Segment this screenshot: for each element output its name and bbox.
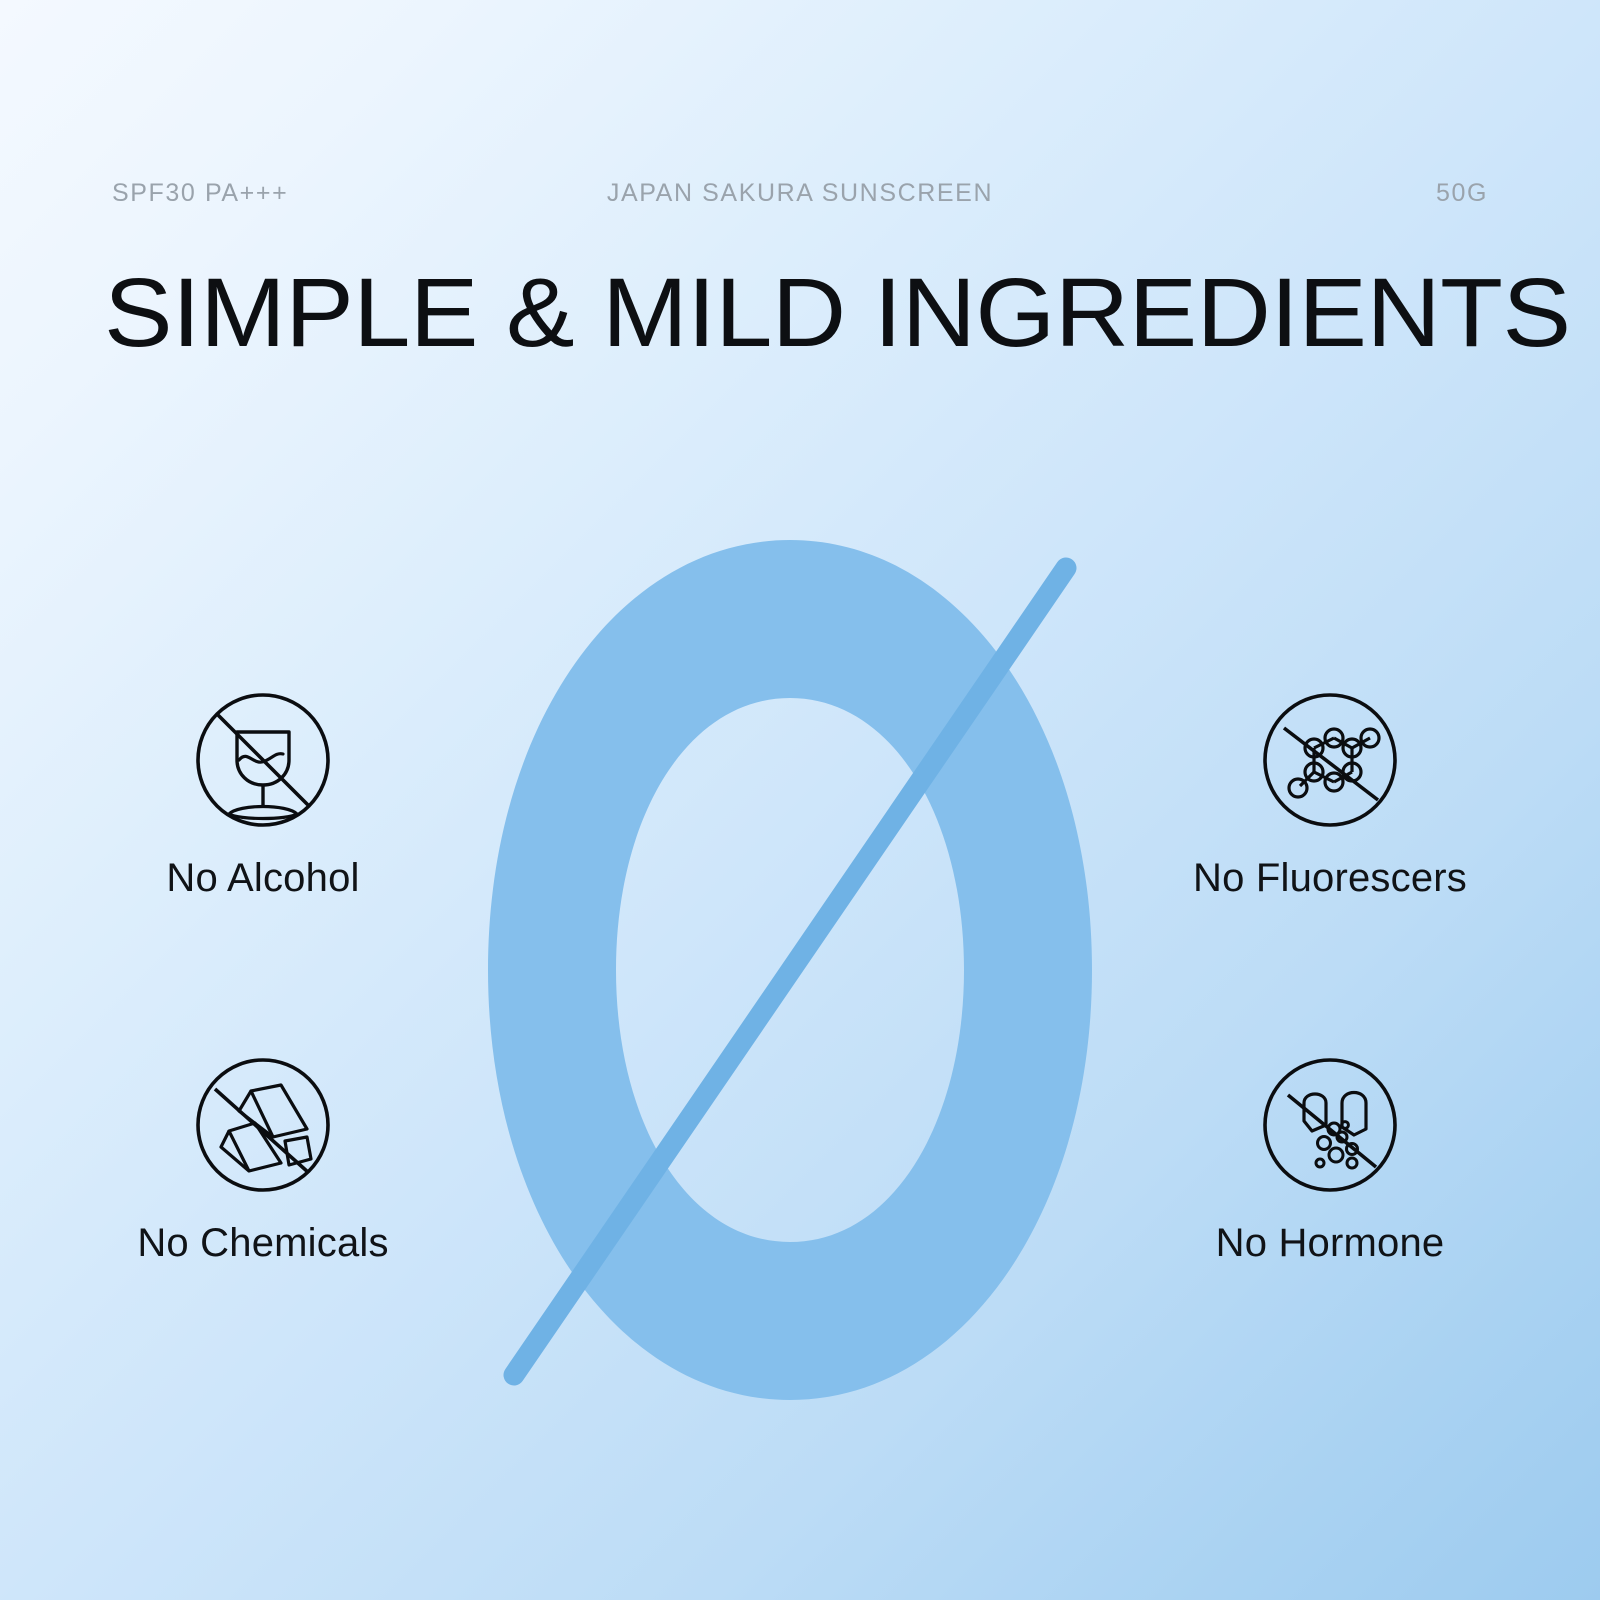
feature-no-alcohol[interactable]: No Alcohol xyxy=(53,690,473,901)
product-meta-bar: SPF30 PA+++ JAPAN SAKURA SUNSCREEN 50G xyxy=(112,176,1488,210)
no-alcohol-icon xyxy=(193,690,333,830)
no-fluorescers-icon xyxy=(1260,690,1400,830)
feature-label: No Hormone xyxy=(1120,1221,1540,1266)
feature-label: No Fluorescers xyxy=(1120,856,1540,901)
feature-label: No Chemicals xyxy=(53,1221,473,1266)
feature-no-chemicals[interactable]: No Chemicals xyxy=(53,1055,473,1266)
zero-slash-stroke xyxy=(514,568,1066,1375)
feature-no-hormone[interactable]: No Hormone xyxy=(1120,1055,1540,1266)
poster-canvas: SPF30 PA+++ JAPAN SAKURA SUNSCREEN 50G S… xyxy=(0,0,1600,1600)
zero-ring xyxy=(488,540,1092,1400)
feature-no-fluorescers[interactable]: No Fluorescers xyxy=(1120,690,1540,901)
zero-hero-graphic xyxy=(470,530,1110,1410)
no-chemicals-icon xyxy=(193,1055,333,1195)
feature-label: No Alcohol xyxy=(53,856,473,901)
product-name-label: JAPAN SAKURA SUNSCREEN xyxy=(112,179,1488,208)
no-hormone-icon xyxy=(1260,1055,1400,1195)
page-title: SIMPLE & MILD INGREDIENTS xyxy=(104,262,1588,365)
